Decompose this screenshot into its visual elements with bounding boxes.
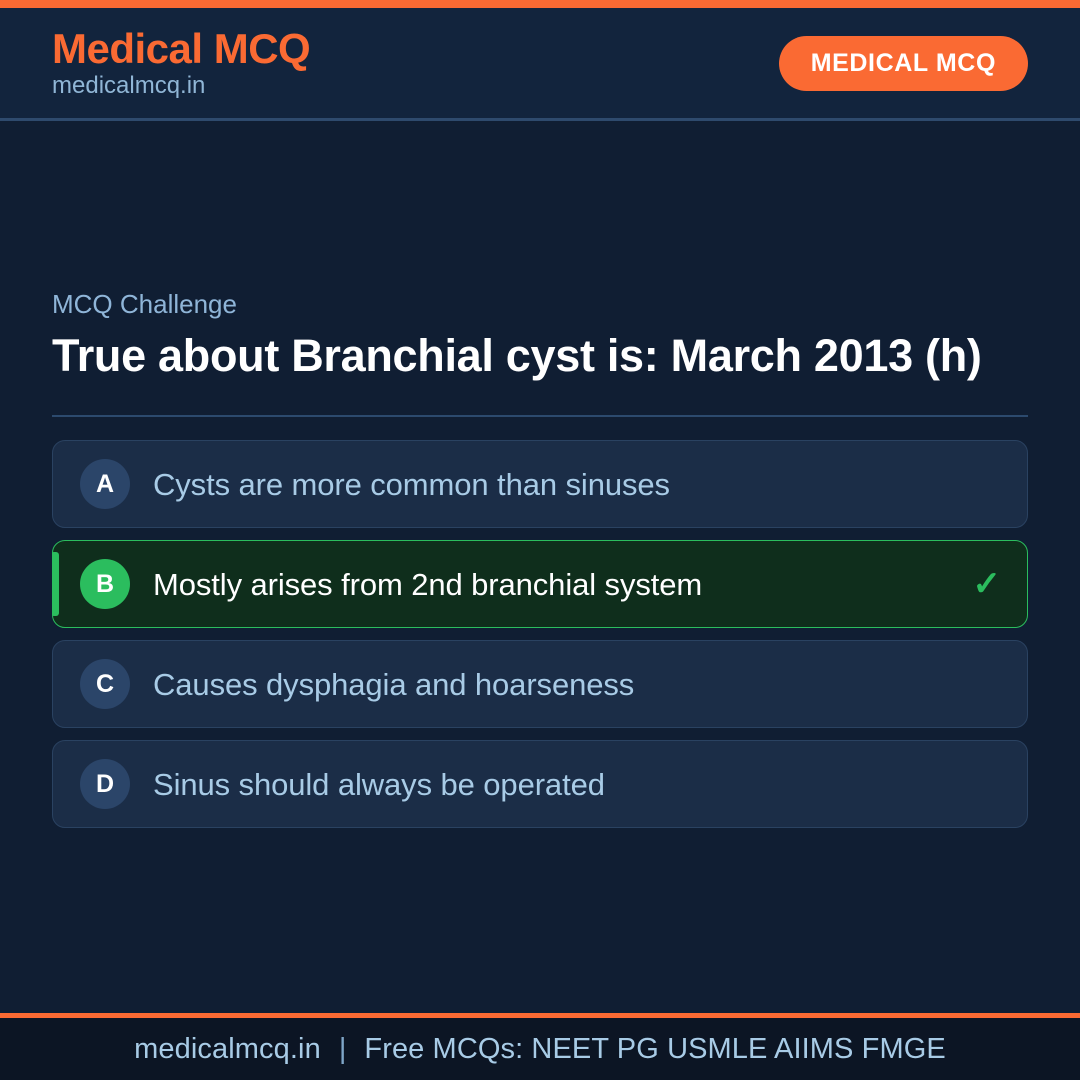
option-text: Mostly arises from 2nd branchial system [153, 566, 959, 603]
main-content: MCQ Challenge True about Branchial cyst … [0, 121, 1080, 1013]
option-letter-badge: A [80, 459, 130, 509]
question-block: MCQ Challenge True about Branchial cyst … [52, 289, 1028, 382]
question-eyebrow-label: MCQ Challenge [52, 289, 1028, 320]
footer-site-label: medicalmcq.in [134, 1033, 321, 1066]
brand-subtitle: medicalmcq.in [52, 73, 310, 99]
option-d[interactable]: D Sinus should always be operated [52, 740, 1028, 828]
option-letter-badge: C [80, 659, 130, 709]
page-footer: medicalmcq.in | Free MCQs: NEET PG USMLE… [0, 1013, 1080, 1080]
option-letter-badge: B [80, 559, 130, 609]
brand-block: Medical MCQ medicalmcq.in [52, 27, 310, 99]
brand-title: Medical MCQ [52, 27, 310, 71]
top-accent-strip [0, 0, 1080, 8]
option-text: Cysts are more common than sinuses [153, 466, 987, 503]
option-text: Causes dysphagia and hoarseness [153, 666, 987, 703]
option-letter-badge: D [80, 759, 130, 809]
option-b[interactable]: B Mostly arises from 2nd branchial syste… [52, 540, 1028, 628]
correct-accent-bar [53, 552, 59, 616]
question-title: True about Branchial cyst is: March 2013… [52, 330, 1028, 382]
option-c[interactable]: C Causes dysphagia and hoarseness [52, 640, 1028, 728]
question-divider [52, 415, 1028, 417]
page-header: Medical MCQ medicalmcq.in MEDICAL MCQ [0, 8, 1080, 121]
option-text: Sinus should always be operated [153, 766, 987, 803]
option-a[interactable]: A Cysts are more common than sinuses [52, 440, 1028, 528]
footer-exams-label: Free MCQs: NEET PG USMLE AIIMS FMGE [364, 1033, 945, 1066]
footer-separator: | [321, 1033, 365, 1066]
header-badge[interactable]: MEDICAL MCQ [779, 36, 1028, 91]
check-icon: ✓ [973, 567, 1002, 601]
options-list: A Cysts are more common than sinuses B M… [52, 440, 1028, 828]
